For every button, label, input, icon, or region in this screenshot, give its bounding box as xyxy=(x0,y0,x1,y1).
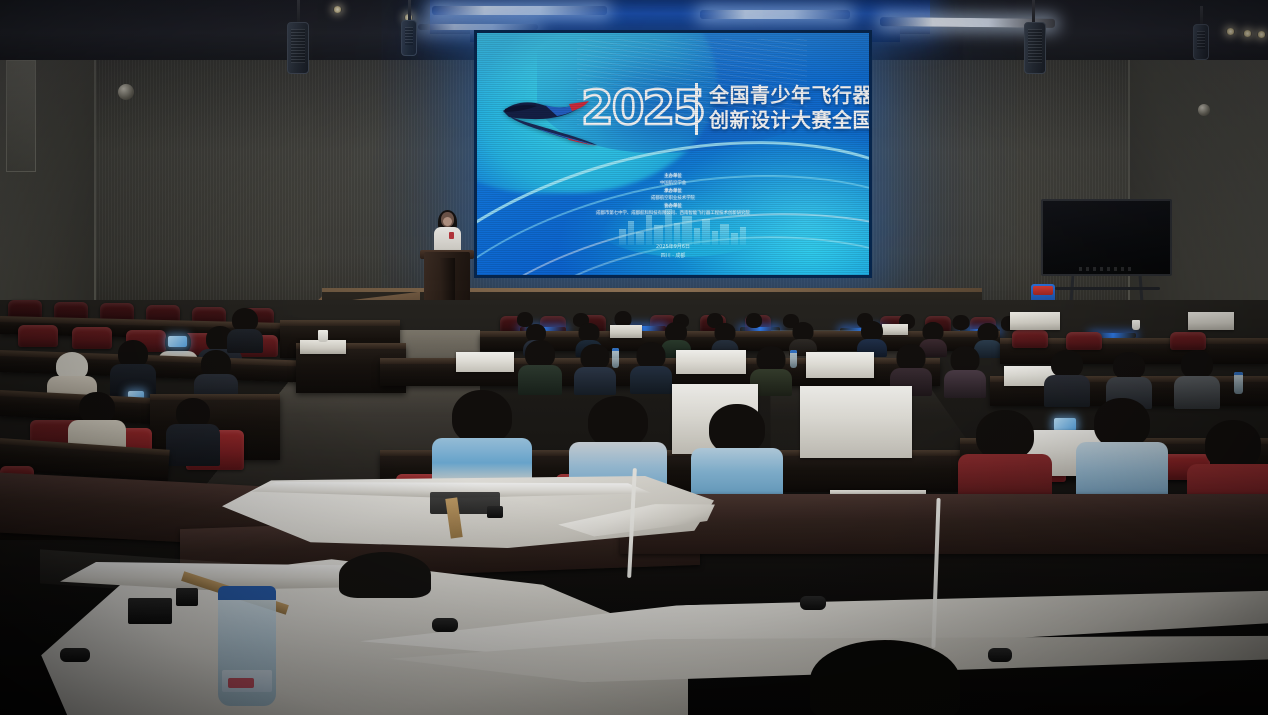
audience-person-front xyxy=(1078,398,1166,494)
auditorium-seat xyxy=(1170,332,1206,350)
audience-person xyxy=(858,321,886,355)
person-head xyxy=(1094,398,1150,448)
ceiling-downlight xyxy=(1257,31,1266,38)
person-head xyxy=(1051,350,1083,378)
model-mount xyxy=(800,596,826,610)
water-bottle xyxy=(790,350,797,368)
speaker-grille xyxy=(405,27,413,45)
audience-person-foreground xyxy=(330,552,440,598)
audience-person-front xyxy=(694,404,780,500)
person-head xyxy=(452,390,512,444)
bottle-cap xyxy=(218,586,276,600)
bottle-cap xyxy=(790,350,797,353)
foam-model-aircraft xyxy=(610,325,642,338)
marble-step xyxy=(620,494,1268,554)
person-head xyxy=(1113,352,1145,380)
person-head xyxy=(976,410,1034,460)
model-mount xyxy=(60,648,90,662)
foam-model-aircraft xyxy=(800,386,912,458)
foam-model-aircraft xyxy=(456,352,514,372)
speaker-grille xyxy=(1028,29,1042,63)
tv-control-strip xyxy=(1079,267,1135,271)
model-mount xyxy=(988,648,1012,662)
audience-person xyxy=(520,340,560,394)
left-wall-trim xyxy=(6,60,36,172)
paper-cup xyxy=(318,330,328,342)
person-head xyxy=(525,340,555,368)
security-camera-icon xyxy=(118,84,134,100)
person-head xyxy=(665,322,687,342)
hanging-speaker xyxy=(401,20,417,56)
audience-person xyxy=(168,398,218,468)
person-head xyxy=(1181,350,1213,379)
person-head xyxy=(951,346,980,373)
desk-surface xyxy=(280,320,400,326)
wall-mounted-display xyxy=(1041,199,1172,276)
person-body-tracksuit xyxy=(1076,442,1168,496)
person-head xyxy=(637,342,666,369)
model-electronics xyxy=(128,598,172,624)
speaker-mount-pole xyxy=(297,0,300,24)
speaker-mount-pole xyxy=(1200,6,1203,26)
speaker-grille xyxy=(1197,31,1205,49)
audience-person xyxy=(745,313,763,333)
person-head xyxy=(709,404,765,454)
foam-model-aircraft xyxy=(676,350,746,374)
tv-cable xyxy=(1055,287,1160,290)
hanging-speaker xyxy=(287,22,309,74)
presenter-badge xyxy=(449,232,454,239)
model-mount xyxy=(432,618,458,632)
speaker-mount-pole xyxy=(1032,0,1035,24)
presenter-face xyxy=(443,217,452,226)
foam-model-aircraft xyxy=(1010,312,1060,330)
screen-gloss xyxy=(477,33,869,275)
model-fitting xyxy=(487,506,503,518)
audience-person xyxy=(946,346,984,398)
speaker-mount-pole xyxy=(408,0,411,22)
person-head xyxy=(746,313,762,328)
person-head xyxy=(339,552,431,598)
security-camera-icon xyxy=(1198,104,1210,116)
audience-person xyxy=(112,340,154,398)
auditorium-seat xyxy=(72,327,112,349)
auditorium-seat xyxy=(18,325,58,347)
ceiling-downlight xyxy=(1243,30,1252,37)
ceiling-light-strip xyxy=(432,6,607,15)
water-bottle xyxy=(218,586,276,706)
audience-person-front xyxy=(960,410,1050,502)
ceiling-downlight xyxy=(1226,28,1235,35)
person-body xyxy=(630,366,672,394)
auditorium-seat xyxy=(1066,332,1102,350)
audience-person xyxy=(632,342,670,394)
audience-person-foreground xyxy=(790,640,980,715)
person-head xyxy=(588,396,648,448)
led-screen-surface: 2025 全国青少年飞行器 创新设计大赛全国总决赛 主办单位 中国航空学会 承办… xyxy=(477,33,869,275)
hanging-speaker xyxy=(1024,22,1046,74)
model-servo xyxy=(176,588,198,606)
paper-cup xyxy=(1132,320,1140,330)
bottle-label-accent xyxy=(228,678,254,688)
water-bottle xyxy=(1234,372,1243,394)
hanging-speaker xyxy=(1193,24,1209,60)
person-head xyxy=(810,640,960,715)
smartphone-screen xyxy=(168,336,187,347)
person-head xyxy=(897,344,926,371)
speaker-grille xyxy=(291,29,305,63)
person-head xyxy=(1205,420,1261,470)
person-body xyxy=(1174,376,1220,409)
audience-person xyxy=(1176,350,1218,408)
ceiling-light-strip xyxy=(700,10,850,19)
led-stage-screen: 2025 全国青少年飞行器 创新设计大赛全国总决赛 主办单位 中国航空学会 承办… xyxy=(474,30,872,278)
auditorium-photo: 2025 全国青少年飞行器 创新设计大赛全国总决赛 主办单位 中国航空学会 承办… xyxy=(0,0,1268,715)
person-head xyxy=(861,321,883,341)
auditorium-seat xyxy=(1012,330,1048,348)
audience-person xyxy=(576,344,614,394)
ceiling-downlight xyxy=(333,6,342,13)
person-body xyxy=(574,367,616,395)
bottle-cap xyxy=(1234,372,1243,375)
stool-seat xyxy=(1033,286,1053,295)
foam-model-aircraft xyxy=(300,340,346,354)
foam-model-aircraft xyxy=(1188,312,1234,330)
person-body xyxy=(166,424,220,466)
person-head xyxy=(953,315,970,330)
audience-person xyxy=(228,308,262,352)
person-body xyxy=(944,370,986,398)
foam-model-aircraft xyxy=(806,352,874,378)
